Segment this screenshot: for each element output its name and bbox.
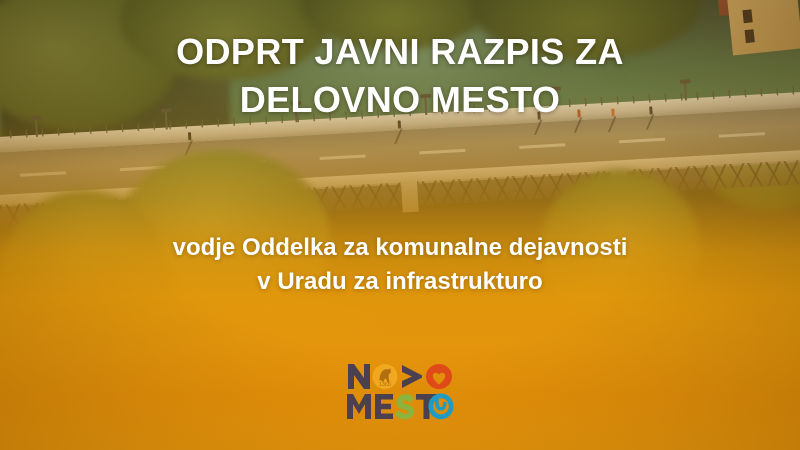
logo-letter-s: [395, 394, 414, 419]
poster-content: ODPRT JAVNI RAZPIS ZA DELOVNO MESTO vodj…: [0, 0, 800, 450]
title-line-2: DELOVNO MESTO: [0, 76, 800, 124]
logo-swirl-inner: [435, 399, 447, 411]
novo-mesto-logo-icon: 1365: [346, 360, 454, 422]
logo-letter-v: [402, 365, 422, 388]
title-line-1: ODPRT JAVNI RAZPIS ZA: [176, 31, 624, 72]
subtitle-line-2: v Uradu za infrastrukturo: [0, 265, 800, 299]
logo-letter-o-heart: [426, 364, 452, 389]
page-title: ODPRT JAVNI RAZPIS ZA DELOVNO MESTO: [0, 28, 800, 123]
novo-mesto-logo: 1365: [0, 360, 800, 422]
logo-letter-e: [375, 394, 393, 419]
poster-subtitle: vodje Oddelka za komunalne dejavnosti v …: [0, 231, 800, 299]
logo-horse-caption: 1365: [379, 382, 391, 388]
poster-banner: ODPRT JAVNI RAZPIS ZA DELOVNO MESTO vodj…: [0, 0, 800, 450]
logo-letter-n: [348, 364, 370, 389]
logo-letter-o-swirl: [429, 394, 454, 420]
logo-letter-m: [347, 394, 371, 419]
subtitle-line-1: vodje Oddelka za komunalne dejavnosti: [173, 234, 628, 261]
